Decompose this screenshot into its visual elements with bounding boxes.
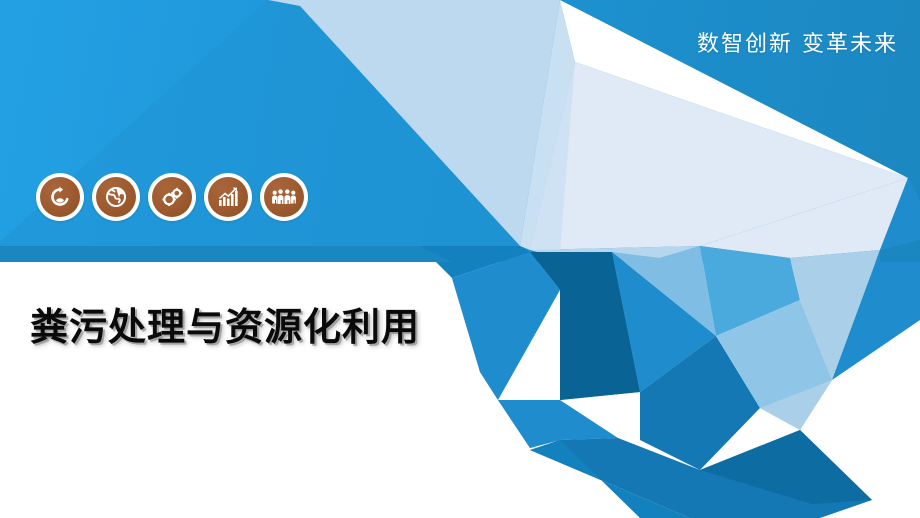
recycle-arrow-icon [40,177,80,217]
icon-badge-recycle[interactable] [36,173,84,221]
low-poly-geometric-graphic [0,0,920,518]
tagline-text: 数智创新 变革未来 [697,26,898,58]
icon-badge-chart[interactable] [204,173,252,221]
people-group-icon [264,177,304,217]
globe-icon [96,177,136,217]
icon-badge-gears[interactable] [148,173,196,221]
slide-canvas: 数智创新 变革未来 [0,0,920,518]
gears-icon [152,177,192,217]
icon-row [36,173,308,221]
poly-band-strip-left [0,246,452,262]
bar-chart-growth-icon [208,177,248,217]
icon-badge-people[interactable] [260,173,308,221]
icon-badge-globe[interactable] [92,173,140,221]
page-title: 粪污处理与资源化利用 [30,296,420,351]
